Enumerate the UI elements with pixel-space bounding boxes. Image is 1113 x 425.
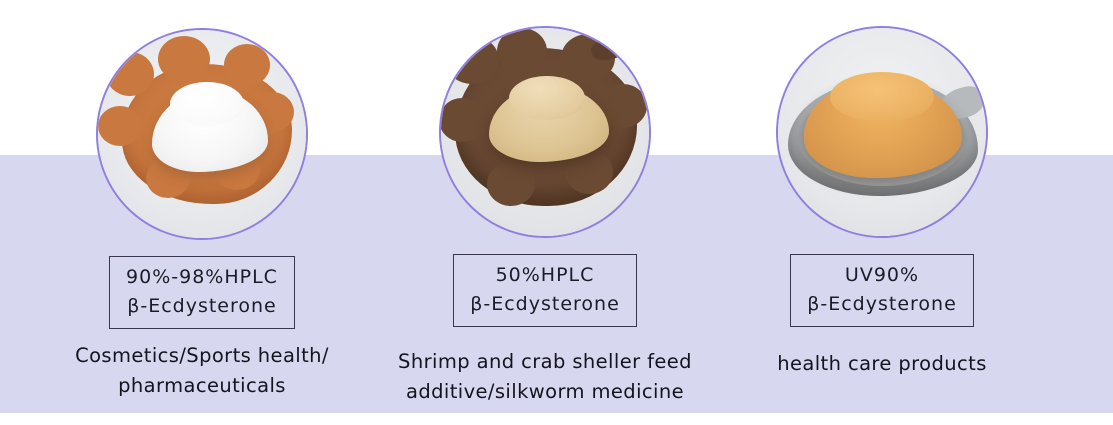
caption-line-2: additive/silkworm medicine [398,377,692,407]
product-grade-cards: 90%-98%HPLC β-Ecdysterone Cosmetics/Spor… [0,0,1113,425]
grade-label-3: UV90% β-Ecdysterone [790,254,974,327]
tray-lobe [445,36,499,84]
product-card-2: 50%HPLC β-Ecdysterone Shrimp and crab sh… [375,0,715,425]
application-caption-3: health care products [777,349,987,379]
powder-highlight [170,82,244,126]
tray-lobe [439,98,485,142]
caption-line-1: Cosmetics/Sports health/ [75,341,329,371]
powder-highlight [830,72,934,122]
grade-label-line-2: β-Ecdysterone [807,290,957,319]
photo-orange-powder-in-grey-dish [778,28,986,236]
grade-label-line-1: 90%-98%HPLC [126,263,278,292]
photo-white-powder-on-terracotta-leaf-tray [98,30,306,238]
caption-line-1: health care products [777,349,987,379]
grade-label-1: 90%-98%HPLC β-Ecdysterone [109,256,295,329]
product-image-2 [439,26,651,238]
grade-label-line-2: β-Ecdysterone [470,290,620,319]
tray-lobe [158,36,210,82]
product-image-1 [96,28,308,240]
grade-label-line-1: 50%HPLC [470,261,620,290]
product-card-1: 90%-98%HPLC β-Ecdysterone Cosmetics/Spor… [32,0,372,425]
tray-lobe [497,28,547,74]
caption-line-2: pharmaceuticals [75,371,329,401]
tray-lobe [106,52,154,96]
tray-lobe [487,162,535,206]
photo-beige-powder-on-brown-leaf-tray [441,28,649,236]
tray-lobe [98,106,142,146]
grade-label-line-1: UV90% [807,261,957,290]
powder-highlight [509,76,585,120]
application-caption-2: Shrimp and crab sheller feed additive/si… [398,347,692,407]
grade-label-2: 50%HPLC β-Ecdysterone [453,254,637,327]
product-image-3 [776,26,988,238]
application-caption-1: Cosmetics/Sports health/ pharmaceuticals [75,341,329,401]
product-card-3: UV90% β-Ecdysterone health care products [712,0,1052,425]
tray-lobe [224,44,270,86]
caption-line-1: Shrimp and crab sheller feed [398,347,692,377]
grade-label-line-2: β-Ecdysterone [126,292,278,321]
